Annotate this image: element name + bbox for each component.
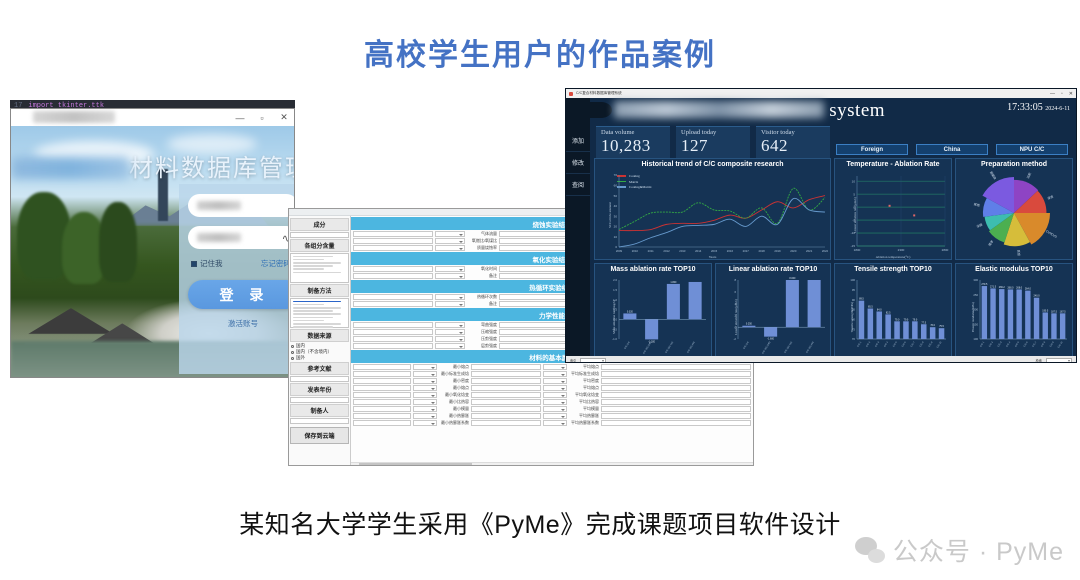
svg-text:10: 10 <box>614 235 618 239</box>
svg-text:2015: 2015 <box>711 249 718 253</box>
app-icon <box>569 92 573 96</box>
svg-text:C/C-9: C/C-9 <box>929 341 934 348</box>
svg-text:C/C-8: C/C-8 <box>920 341 925 348</box>
stat-cards: Data volume 10,283 Upload today 127 Visi… <box>596 126 830 159</box>
form-row[interactable]: 最小密度平均密度 <box>351 378 753 384</box>
svg-text:2010: 2010 <box>632 249 639 253</box>
stat-card-upload-today: Upload today 127 <box>676 126 750 159</box>
svg-text:1.0: 1.0 <box>613 298 617 302</box>
svg-text:2021: 2021 <box>806 249 813 253</box>
line-chart-plot: SCI article amount Years Coating Matrix … <box>595 170 830 259</box>
svg-text:C/C-9: C/C-9 <box>1050 341 1055 348</box>
clock-date: 2024-6-11 <box>1045 106 1070 112</box>
svg-text:C/C-6: C/C-6 <box>1024 341 1029 348</box>
svg-text:2022: 2022 <box>822 249 829 253</box>
section-header-component-content: 各组分含量 <box>290 239 349 252</box>
svg-text:89.5: 89.5 <box>859 298 864 301</box>
svg-text:20: 20 <box>614 225 618 229</box>
chart-title: Historical trend of C/C composite resear… <box>595 159 830 168</box>
svg-text:0: 0 <box>734 325 736 329</box>
svg-text:C/C-7: C/C-7 <box>911 341 916 348</box>
stat-label: Visitor today <box>761 129 825 136</box>
svg-text:反应: 反应 <box>1017 250 1023 256</box>
svg-text:C/C-7: C/C-7 <box>1033 341 1038 348</box>
field-label: 最小模量 <box>439 406 469 412</box>
svg-text:268.0: 268.0 <box>1007 286 1014 289</box>
chart-panel-historical-trend: Historical trend of C/C composite resear… <box>594 158 831 260</box>
svg-text:269.2: 269.2 <box>999 286 1006 289</box>
svg-text:C/C-SiC-HfC: C/C-SiC-HfC <box>806 341 815 353</box>
field-label: 平均热膨胀 <box>569 413 599 419</box>
svg-text:其他: 其他 <box>973 201 980 207</box>
svg-text:0.5: 0.5 <box>613 308 617 312</box>
svg-text:84.0: 84.0 <box>877 308 882 311</box>
svg-text:C/C-ZrC: C/C-ZrC <box>743 341 750 350</box>
checkbox-box <box>191 261 197 267</box>
minimize-icon[interactable]: — <box>1050 91 1055 97</box>
field-label: 平均热膨胀系数 <box>569 420 599 426</box>
svg-text:6: 6 <box>734 290 736 294</box>
svg-text:C/C-SiC-TaC: C/C-SiC-TaC <box>665 341 674 354</box>
field-label: 平均氧化焓变 <box>569 392 599 398</box>
chart-title: Elastic modulus TOP10 <box>956 264 1072 273</box>
svg-text:C/C-10: C/C-10 <box>1058 341 1064 349</box>
svg-text:-2: -2 <box>734 337 737 341</box>
activate-account-link[interactable]: 激活账号 <box>188 318 294 329</box>
form-row[interactable]: 最小热膨胀平均热膨胀 <box>351 413 753 419</box>
sidebar-item-modify[interactable]: 修改 <box>566 152 590 174</box>
stat-card-data-volume: Data volume 10,283 <box>596 126 670 159</box>
svg-text:C/C-2: C/C-2 <box>866 341 871 348</box>
svg-text:40: 40 <box>614 204 618 208</box>
svg-text:200: 200 <box>973 308 978 312</box>
login-button[interactable]: 登 录 <box>188 280 294 309</box>
field-label: 氧化时间 <box>467 266 497 272</box>
svg-text:2018: 2018 <box>758 249 765 253</box>
field-label: 最小熔点 <box>439 385 469 391</box>
dashboard-title: system <box>614 100 885 122</box>
section-header-reference: 参考文献 <box>290 362 349 375</box>
stat-card-visitor-today: Visitor today 642 <box>756 126 830 159</box>
field-label: 热循环次数 <box>467 294 497 300</box>
clock: 17:33:05 2024-6-11 <box>1007 102 1070 113</box>
chart-title: Tensile strength TOP10 <box>835 264 951 273</box>
maximize-icon[interactable]: ▫ <box>1061 91 1063 97</box>
dashboard-title-blurred <box>614 101 824 118</box>
svg-text:0.320: 0.320 <box>627 310 634 313</box>
svg-text:79.0: 79.0 <box>904 318 909 321</box>
login-options-row: 记住我 忘记密码? <box>188 258 294 269</box>
login-heading-text: 材料数据库管理系统 <box>129 155 294 182</box>
filter-button-foreign[interactable]: Foreign <box>836 144 908 155</box>
form-row[interactable]: 最小热膨胀系数平均热膨胀系数 <box>351 420 753 426</box>
form-row[interactable]: 最小熔点平均熔点 <box>351 364 753 370</box>
scatter-chart-plot: Linear ablation rate(μm/s) Ablation temp… <box>835 170 951 259</box>
dashboard-title-suffix: system <box>829 100 885 121</box>
svg-text:60: 60 <box>614 183 618 187</box>
svg-text:C/C-3: C/C-3 <box>875 341 880 348</box>
clock-time: 17:33:05 <box>1007 102 1043 113</box>
svg-text:100: 100 <box>973 337 978 341</box>
svg-text:77.5: 77.5 <box>921 321 926 324</box>
svg-text:268.0: 268.0 <box>1016 286 1023 289</box>
logo-icon <box>590 102 612 118</box>
data-source-label: 国外 <box>296 355 305 361</box>
save-to-cloud-button[interactable]: 保存到云端 <box>290 427 349 444</box>
dashboard-statusbar: 索引 检索 <box>566 356 1076 363</box>
svg-text:1.800: 1.800 <box>670 281 677 284</box>
svg-text:C/C-8: C/C-8 <box>1041 341 1046 348</box>
svg-text:90: 90 <box>852 298 856 302</box>
svg-text:80: 80 <box>852 318 856 322</box>
section-header-publish-year: 发表年份 <box>290 383 349 396</box>
remember-me-checkbox[interactable]: 记住我 <box>191 258 223 269</box>
chart-panel-linear-ablation: Linear ablation rate TOP10 Linear ablati… <box>715 263 831 359</box>
field-label: 层剪强度 <box>467 343 497 349</box>
dashboard-window-title: C/C复合材料数据库管理系统 <box>576 91 622 96</box>
svg-text:C/C-1: C/C-1 <box>857 341 862 348</box>
svg-text:0.0: 0.0 <box>613 318 617 322</box>
dashboard-titlebar[interactable]: C/C复合材料数据库管理系统 — ▫ ✕ <box>566 89 1076 98</box>
svg-text:前驱体: 前驱体 <box>989 170 998 180</box>
field-label: 平均熔点 <box>569 364 599 370</box>
filter-button-npu-cc[interactable]: NPU C/C <box>996 144 1068 155</box>
field-label: 最小标准生成焓 <box>439 371 469 377</box>
bar-chart-plot: Linear ablation rate(μm/s) -2024680.250C… <box>716 275 830 358</box>
form-horizontal-scrollbar[interactable] <box>351 462 753 466</box>
svg-text:2011: 2011 <box>648 249 654 253</box>
field-label: 弯曲强度 <box>467 322 497 328</box>
watermark-text: 公众号 · PyMe <box>893 532 1064 568</box>
svg-text:2013: 2013 <box>679 249 686 253</box>
svg-text:150: 150 <box>973 322 978 326</box>
form-row[interactable]: 最小标准生成焓平均标准生成焓 <box>351 371 753 377</box>
statusbar-left-label: 索引 <box>570 358 576 363</box>
svg-text:82.5: 82.5 <box>886 311 891 314</box>
svg-text:2.0: 2.0 <box>613 278 617 282</box>
svg-text:C/C-SiC-TaC: C/C-SiC-TaC <box>784 341 793 354</box>
data-source-option-2[interactable]: 国外 <box>290 355 349 361</box>
stat-value: 10,283 <box>601 136 665 156</box>
section-header-preparation-method: 制备方法 <box>290 284 349 297</box>
svg-text:187.5: 187.5 <box>1051 310 1058 313</box>
svg-text:2020: 2020 <box>790 249 797 253</box>
field-label: 最小热膨胀 <box>439 413 469 419</box>
form-row[interactable]: 最小比热容平均比热容 <box>351 399 753 405</box>
field-label: 备注 <box>467 273 497 279</box>
chart-panel-mass-ablation: Mass ablation rate TOP10 Mass ablation r… <box>594 263 712 359</box>
svg-text:C/C-5: C/C-5 <box>1015 341 1020 348</box>
filter-buttons: Foreign China NPU C/C <box>836 144 1068 155</box>
field-label: 压剪强度 <box>467 336 497 342</box>
svg-text:-5: -5 <box>852 218 855 222</box>
svg-text:C/C-4: C/C-4 <box>884 341 889 348</box>
login-heading: 材料数据库管理系统 <box>11 148 294 183</box>
svg-text:0: 0 <box>853 205 855 209</box>
svg-text:85.5: 85.5 <box>868 306 873 309</box>
preparation-method-list[interactable] <box>290 298 349 328</box>
svg-text:79.0: 79.0 <box>895 318 900 321</box>
svg-text:10: 10 <box>852 179 856 183</box>
svg-text:75.5: 75.5 <box>939 325 944 328</box>
svg-text:190.5: 190.5 <box>1042 309 1049 312</box>
svg-text:-10: -10 <box>851 231 856 235</box>
field-label: 氧燃比/氧煤比 <box>467 238 497 244</box>
bar-chart-plot: Elastic modulus(GPa) 100150200250300279.… <box>956 275 1072 358</box>
reference-input[interactable] <box>290 376 349 382</box>
svg-text:70: 70 <box>614 173 618 177</box>
section-header-data-source: 数据来源 <box>290 329 349 342</box>
chart-panel-tensile-strength: Tensile strength TOP10 Tensile strength(… <box>834 263 952 359</box>
svg-text:30: 30 <box>614 214 618 218</box>
svg-text:C/C-5: C/C-5 <box>893 341 898 348</box>
stat-label: Data volume <box>601 129 665 136</box>
login-body: 材料数据库管理系统 ∿ 记住我 忘记密码? 登 录 激活账号 <box>11 126 294 378</box>
svg-text:C/C-6: C/C-6 <box>902 341 907 348</box>
field-label: 最小比热容 <box>439 399 469 405</box>
svg-text:79.0: 79.0 <box>913 318 918 321</box>
field-label: 最小熔点 <box>439 364 469 370</box>
chart-title: Preparation method <box>956 159 1072 168</box>
svg-text:70: 70 <box>852 337 856 341</box>
svg-text:C/C-10: C/C-10 <box>937 341 943 349</box>
form-row[interactable]: 最小氧化焓变平均氧化焓变 <box>351 392 753 398</box>
svg-text:8: 8 <box>734 278 736 282</box>
bar-chart-plot: Tensile strength(MPa) 70758085909510089.… <box>835 275 951 358</box>
svg-text:浸渍: 浸渍 <box>1046 194 1053 201</box>
pie-chart-plot: 沉积浸渍CVI/CVD反应熔渗涂层其他前驱体 <box>956 170 1072 259</box>
login-window-title <box>33 111 115 123</box>
svg-text:2: 2 <box>734 314 736 318</box>
field-label: 平均标准生成焓 <box>569 371 599 377</box>
field-label: 最小氧化焓变 <box>439 392 469 398</box>
field-label: 平均熔点 <box>569 385 599 391</box>
svg-text:300: 300 <box>973 278 978 282</box>
close-icon[interactable]: ✕ <box>278 112 290 123</box>
svg-text:187.5: 187.5 <box>1060 310 1067 313</box>
field-label: 最小密度 <box>439 378 469 384</box>
username-input[interactable] <box>188 194 294 217</box>
svg-text:涂层: 涂层 <box>976 222 983 229</box>
svg-text:C/C-3: C/C-3 <box>998 341 1003 348</box>
svg-text:C/C-SiC-ZrB2: C/C-SiC-ZrB2 <box>761 340 771 354</box>
svg-text:4: 4 <box>734 302 736 306</box>
minimize-icon[interactable]: — <box>234 113 246 123</box>
chart-title: Linear ablation rate TOP10 <box>716 264 830 273</box>
svg-text:2016: 2016 <box>727 249 734 253</box>
svg-text:2019: 2019 <box>774 249 781 253</box>
svg-text:-0.5: -0.5 <box>612 327 617 331</box>
svg-text:CVI/CVD: CVI/CVD <box>1045 229 1058 239</box>
sidebar-item-add[interactable]: 添加 <box>566 130 590 152</box>
form-row[interactable]: 最小模量平均模量 <box>351 406 753 412</box>
author-input[interactable] <box>290 418 349 424</box>
svg-text:0.250: 0.250 <box>746 323 753 326</box>
login-window[interactable]: — ▫ ✕ 材料数据库管理系统 ∿ 记住我 <box>10 108 295 378</box>
stat-label: Upload today <box>681 129 745 136</box>
svg-text:50: 50 <box>614 194 618 198</box>
password-value <box>197 233 241 242</box>
field-label: 质量烧蚀率 <box>467 245 497 251</box>
statusbar-right-label: 检索 <box>1036 358 1042 363</box>
field-label: 平均密度 <box>569 378 599 384</box>
field-label: 压缩强度 <box>467 329 497 335</box>
sidebar-item-query[interactable]: 查阅 <box>566 174 590 196</box>
svg-text:2800: 2800 <box>942 248 949 252</box>
field-label: 平均比热容 <box>569 399 599 405</box>
svg-text:279.5: 279.5 <box>981 283 988 286</box>
page-title: 高校学生用户的作品案例 <box>0 30 1080 74</box>
svg-text:271.5: 271.5 <box>990 285 997 288</box>
svg-text:1.5: 1.5 <box>613 288 617 292</box>
svg-text:沉积: 沉积 <box>1025 172 1032 180</box>
svg-text:100: 100 <box>850 278 855 282</box>
svg-text:2009: 2009 <box>616 249 623 253</box>
field-label: 气体流量 <box>467 231 497 237</box>
chart-title: Temperature - Ablation Rate <box>835 159 951 168</box>
watermark: 公众号 · PyMe <box>855 532 1064 568</box>
chart-panel-preparation-method: Preparation method 沉积浸渍CVI/CVD反应熔渗涂层其他前驱… <box>955 158 1073 260</box>
svg-text:250: 250 <box>973 293 978 297</box>
dashboard-sidebar: 添加 修改 查阅 <box>566 98 590 363</box>
svg-text:240.0: 240.0 <box>1034 295 1041 298</box>
svg-text:2300: 2300 <box>898 248 905 252</box>
statusbar-right-select[interactable] <box>1046 358 1072 363</box>
svg-text:85: 85 <box>852 308 856 312</box>
component-content-list[interactable] <box>290 253 349 283</box>
svg-text:1800: 1800 <box>854 248 861 252</box>
statusbar-left-select[interactable] <box>580 358 606 363</box>
field-label: 平均模量 <box>569 406 599 412</box>
composition-input[interactable] <box>290 232 349 238</box>
dashboard-window[interactable]: C/C复合材料数据库管理系统 — ▫ ✕ 添加 修改 查阅 system 17:… <box>565 88 1077 363</box>
svg-text:75: 75 <box>852 327 856 331</box>
stat-value: 642 <box>761 136 825 156</box>
svg-text:8.000: 8.000 <box>789 277 796 280</box>
field-label: 最小热膨胀系数 <box>439 420 469 426</box>
login-titlebar[interactable]: — ▫ ✕ <box>11 109 294 126</box>
password-input[interactable]: ∿ <box>188 226 294 249</box>
bar-chart-plot: Mass ablation rate(mg/s) -1.0-0.50.00.51… <box>595 275 711 358</box>
chart-panel-temperature-ablation: Temperature - Ablation Rate Linear ablat… <box>834 158 952 260</box>
publish-year-input[interactable] <box>290 397 349 403</box>
dashboard-header: system 17:33:05 2024-6-11 <box>590 98 1076 126</box>
form-left-panel: 成分 各组分含量 制备方法 数据来源 国内 国内（不含境内） 国外 参考文献 <box>289 216 351 466</box>
svg-text:C/C-1: C/C-1 <box>980 341 985 348</box>
login-heading-blurred <box>11 157 129 179</box>
svg-text:C/C-2: C/C-2 <box>989 341 994 348</box>
remember-me-label: 记住我 <box>200 258 223 269</box>
maximize-icon[interactable]: ▫ <box>256 113 268 123</box>
svg-text:2017: 2017 <box>743 249 750 253</box>
section-header-composition: 成分 <box>290 218 349 231</box>
svg-text:C/C-SiC-HfC: C/C-SiC-HfC <box>687 341 696 353</box>
svg-text:95: 95 <box>852 288 856 292</box>
svg-text:-1.600: -1.600 <box>767 338 774 341</box>
svg-text:2014: 2014 <box>695 249 702 253</box>
form-row[interactable]: 最小熔点平均熔点 <box>351 385 753 391</box>
stat-value: 127 <box>681 136 745 156</box>
svg-text:76.0: 76.0 <box>930 324 935 327</box>
svg-text:-1.0: -1.0 <box>612 337 617 341</box>
svg-text:264.0: 264.0 <box>1025 288 1032 291</box>
svg-text:C/C-ZrC: C/C-ZrC <box>624 341 631 350</box>
wechat-icon <box>855 537 885 563</box>
username-value <box>197 201 241 210</box>
close-icon[interactable]: ✕ <box>1069 91 1073 97</box>
field-label: 备注 <box>467 301 497 307</box>
svg-text:5: 5 <box>853 192 855 196</box>
svg-text:2012: 2012 <box>663 249 670 253</box>
chart-title: Mass ablation rate TOP10 <box>595 264 711 273</box>
svg-text:熔渗: 熔渗 <box>987 239 995 247</box>
section-header-author: 制备人 <box>290 404 349 417</box>
svg-text:C/C-4: C/C-4 <box>1006 341 1011 348</box>
login-card: ∿ 记住我 忘记密码? 登 录 激活账号 <box>179 184 294 374</box>
filter-button-china[interactable]: China <box>916 144 988 155</box>
chart-panel-elastic-modulus: Elastic modulus TOP10 Elastic modulus(GP… <box>955 263 1073 359</box>
